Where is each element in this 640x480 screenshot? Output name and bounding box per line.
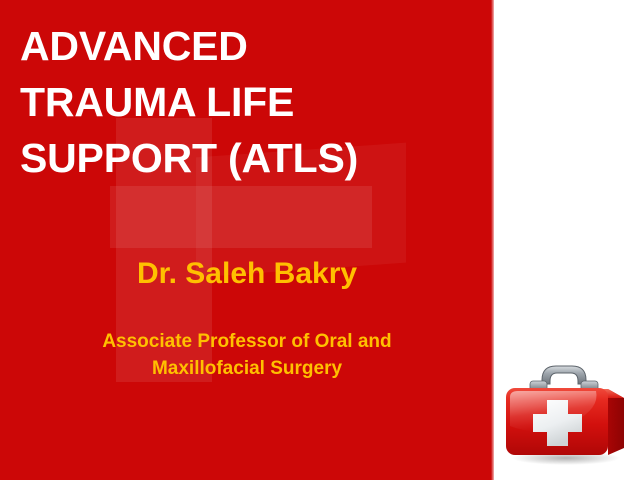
title-line-3: SUPPORT (ATLS) <box>20 130 470 186</box>
watermark-cross-horizontal <box>110 186 372 248</box>
left-red-panel: ADVANCED TRAUMA LIFE SUPPORT (ATLS) Dr. … <box>0 0 494 480</box>
affiliation-line-2: Maxillofacial Surgery <box>40 355 454 382</box>
kit-side-panel <box>608 389 624 455</box>
affiliation-line-1: Associate Professor of Oral and <box>40 328 454 355</box>
kit-handle <box>542 366 586 384</box>
slide-title: ADVANCED TRAUMA LIFE SUPPORT (ATLS) <box>20 18 470 186</box>
presenter-affiliation: Associate Professor of Oral and Maxillof… <box>40 328 454 382</box>
first-aid-kit-icon <box>500 348 634 466</box>
title-line-2: TRAUMA LIFE <box>20 74 470 130</box>
panel-divider <box>491 0 494 480</box>
title-line-1: ADVANCED <box>20 18 470 74</box>
title-slide: ADVANCED TRAUMA LIFE SUPPORT (ATLS) Dr. … <box>0 0 640 480</box>
presenter-name: Dr. Saleh Bakry <box>0 255 494 293</box>
